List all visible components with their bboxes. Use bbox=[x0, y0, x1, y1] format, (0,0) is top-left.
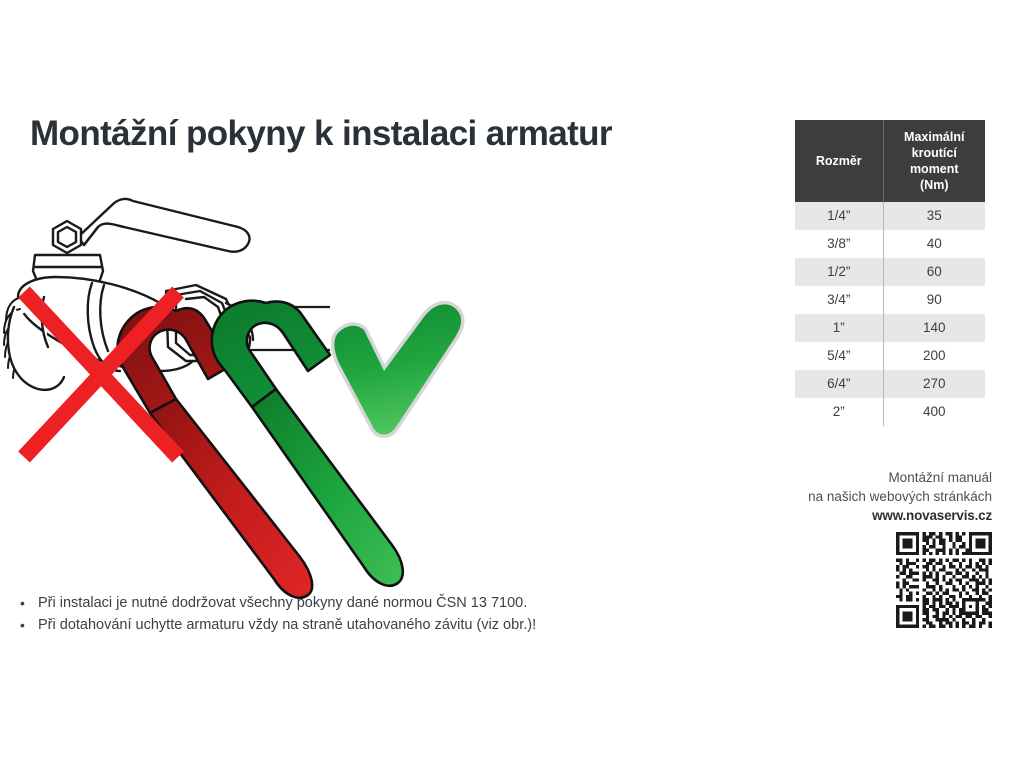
table-row: 3/8” 40 bbox=[795, 230, 985, 258]
column-header-torque-line-3: moment bbox=[888, 161, 982, 177]
table-row: 2” 400 bbox=[795, 398, 985, 426]
page-title: Montážní pokyny k instalaci armatur bbox=[30, 116, 612, 153]
green-check-icon bbox=[334, 304, 461, 434]
bullet-marker-icon: • bbox=[20, 614, 38, 636]
list-item: • Při dotahování uchytte armaturu vždy n… bbox=[20, 614, 660, 636]
column-header-torque: Maximální kroutící moment (Nm) bbox=[883, 120, 985, 202]
column-header-torque-line-1: Maximální bbox=[888, 129, 982, 145]
cell-size: 1/4” bbox=[795, 202, 883, 230]
qr-code[interactable] bbox=[896, 532, 992, 628]
bullet-marker-icon: • bbox=[20, 592, 38, 614]
table-row: 1” 140 bbox=[795, 314, 985, 342]
list-item: • Při instalaci je nutné dodržovat všech… bbox=[20, 592, 660, 614]
cell-size: 1/2” bbox=[795, 258, 883, 286]
cell-size: 5/4” bbox=[795, 342, 883, 370]
installation-illustration bbox=[0, 175, 560, 605]
cell-size: 1” bbox=[795, 314, 883, 342]
table-row: 6/4” 270 bbox=[795, 370, 985, 398]
column-header-size: Rozměr bbox=[795, 120, 883, 202]
table-header-row: Rozměr Maximální kroutící moment (Nm) bbox=[795, 120, 985, 202]
cell-size: 3/4” bbox=[795, 286, 883, 314]
footer-line-1: Montážní manuál bbox=[760, 468, 992, 487]
poster-canvas: Montážní pokyny k instalaci armatur bbox=[0, 0, 1024, 768]
cell-torque: 60 bbox=[883, 258, 985, 286]
column-header-torque-line-4: (Nm) bbox=[888, 177, 982, 193]
table-row: 3/4” 90 bbox=[795, 286, 985, 314]
cell-size: 3/8” bbox=[795, 230, 883, 258]
cell-torque: 400 bbox=[883, 398, 985, 426]
cell-torque: 90 bbox=[883, 286, 985, 314]
cell-size: 2” bbox=[795, 398, 883, 426]
table-row: 1/4” 35 bbox=[795, 202, 985, 230]
footer-line-2: na našich webových stránkách bbox=[760, 487, 992, 506]
list-item-text: Při instalaci je nutné dodržovat všechny… bbox=[38, 592, 660, 614]
cell-torque: 270 bbox=[883, 370, 985, 398]
column-header-torque-line-2: kroutící bbox=[888, 145, 982, 161]
manual-footer-note: Montážní manuál na našich webových strán… bbox=[760, 468, 992, 525]
cell-torque: 40 bbox=[883, 230, 985, 258]
cell-size: 6/4” bbox=[795, 370, 883, 398]
list-item-text: Při dotahování uchytte armaturu vždy na … bbox=[38, 614, 660, 636]
cell-torque: 35 bbox=[883, 202, 985, 230]
instruction-bullet-list: • Při instalaci je nutné dodržovat všech… bbox=[20, 592, 660, 636]
cell-torque: 200 bbox=[883, 342, 985, 370]
website-url[interactable]: www.novaservis.cz bbox=[760, 506, 992, 525]
torque-table: Rozměr Maximální kroutící moment (Nm) 1/… bbox=[795, 120, 985, 426]
table-row: 1/2” 60 bbox=[795, 258, 985, 286]
cell-torque: 140 bbox=[883, 314, 985, 342]
table-row: 5/4” 200 bbox=[795, 342, 985, 370]
